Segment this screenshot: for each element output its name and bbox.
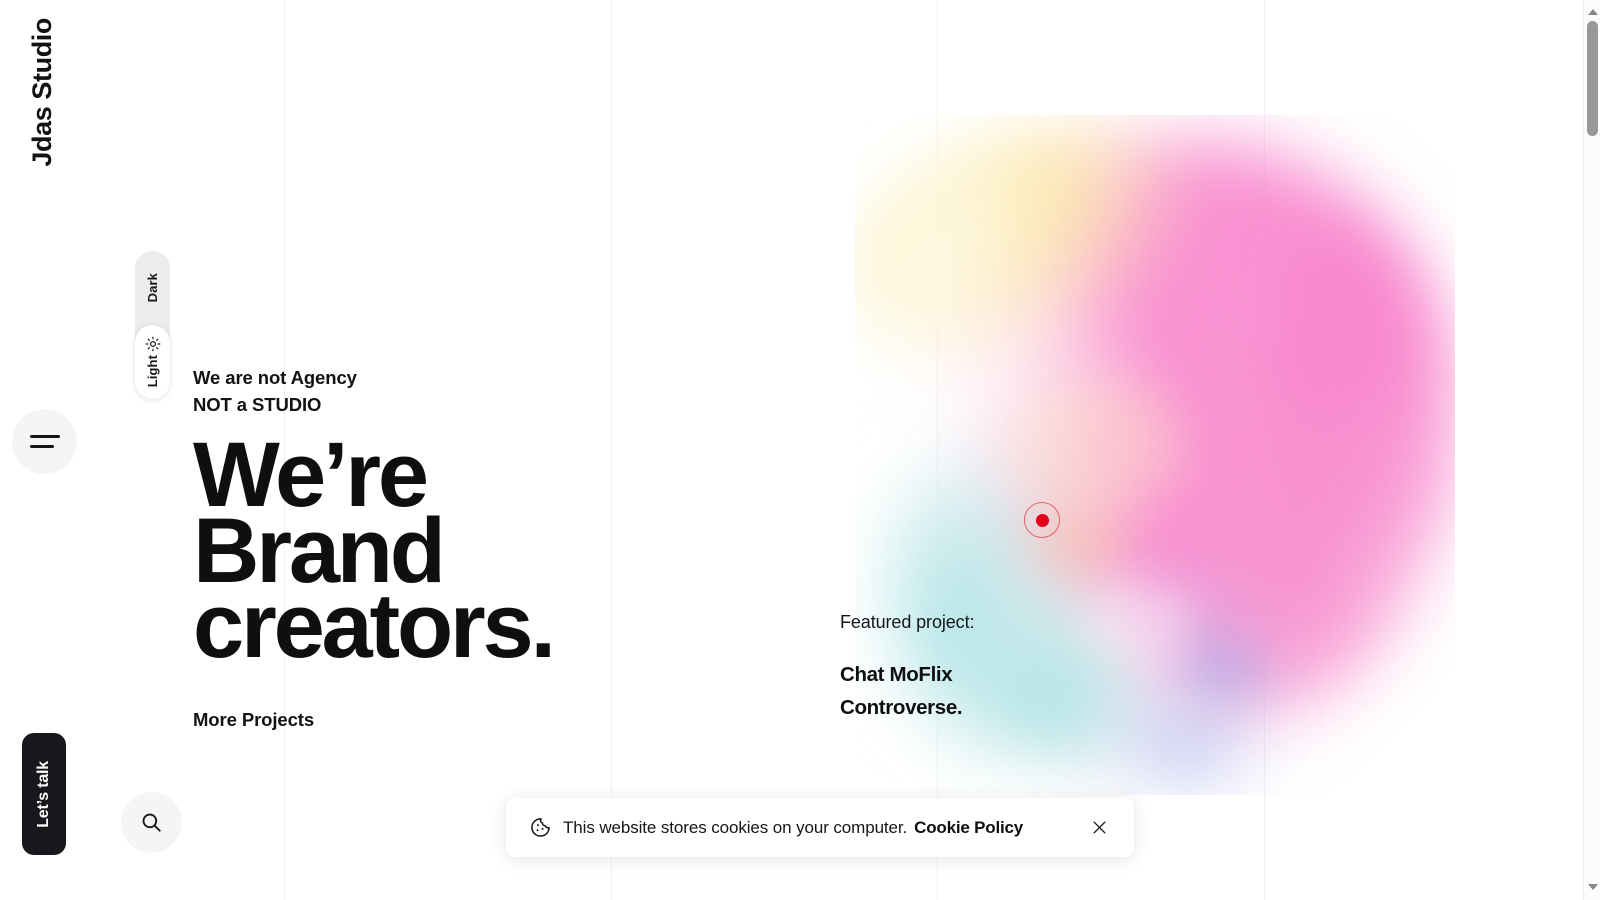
theme-toggle[interactable]: Dark Light: [135, 251, 170, 399]
theme-option-dark[interactable]: Dark: [135, 251, 170, 325]
theme-option-dark-label: Dark: [146, 273, 159, 302]
featured-project-title-line2: Controverse.: [840, 692, 974, 725]
sun-icon: [145, 336, 161, 352]
cookie-close-button[interactable]: [1087, 815, 1112, 840]
hamburger-icon: [30, 435, 60, 438]
scrollbar-thumb[interactable]: [1587, 21, 1598, 136]
cookie-message: This website stores cookies on your comp…: [563, 818, 907, 838]
scrollbar[interactable]: [1583, 0, 1600, 900]
hero-eyebrow-line1: We are not Agency: [193, 365, 753, 392]
hero-section: We are not Agency NOT a STUDIO We’re Bra…: [193, 365, 753, 731]
more-projects-link[interactable]: More Projects: [193, 709, 314, 731]
hamburger-menu-button[interactable]: [12, 409, 77, 474]
featured-project-label: Featured project:: [840, 612, 974, 633]
scrollbar-up-arrow[interactable]: [1584, 3, 1600, 20]
page-root: Jdas Studio Dark: [0, 0, 1600, 900]
grid-line: [1264, 0, 1265, 900]
close-icon: [1091, 819, 1108, 836]
hero-eyebrow-line2: NOT a STUDIO: [193, 392, 753, 419]
lets-talk-label: Let’s talk: [36, 761, 52, 828]
lets-talk-button[interactable]: Let’s talk: [22, 733, 66, 855]
hero-eyebrow: We are not Agency NOT a STUDIO: [193, 365, 753, 418]
cookie-banner: This website stores cookies on your comp…: [506, 798, 1134, 857]
featured-project-title[interactable]: Chat MoFlix Controverse.: [840, 659, 974, 725]
theme-option-light-label: Light: [146, 355, 159, 387]
page-title: We’re Brand creators.: [193, 438, 753, 664]
featured-project: Featured project: Chat MoFlix Controvers…: [840, 612, 974, 725]
featured-project-title-line1: Chat MoFlix: [840, 659, 974, 692]
search-button[interactable]: [121, 792, 182, 853]
cursor-marker: [1024, 502, 1060, 538]
brand-logo[interactable]: Jdas Studio: [22, 18, 62, 198]
cookie-policy-link[interactable]: Cookie Policy: [914, 818, 1023, 838]
theme-option-light[interactable]: Light: [135, 325, 170, 399]
grid-line: [937, 0, 938, 900]
headline-line3: creators.: [193, 589, 753, 664]
cookie-icon: [530, 817, 551, 838]
scrollbar-down-arrow[interactable]: [1584, 878, 1600, 895]
cursor-dot: [1036, 514, 1049, 527]
hamburger-icon-line2: [30, 445, 54, 448]
search-icon: [140, 811, 163, 834]
brand-logo-label: Jdas Studio: [29, 18, 56, 167]
